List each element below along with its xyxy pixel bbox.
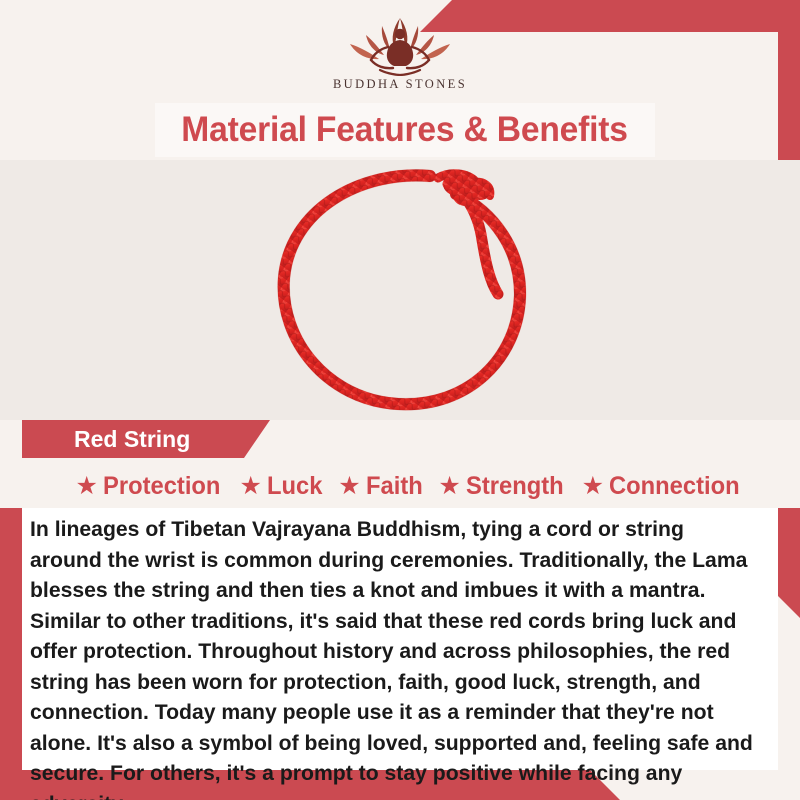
star-icon: ★ <box>338 474 360 499</box>
product-infographic: BUDDHA STONES Material Features & Benefi… <box>0 0 800 800</box>
material-ribbon: Red String <box>22 420 270 458</box>
benefit-label: Luck <box>267 472 322 501</box>
red-string-bracelet-image <box>232 160 572 420</box>
brand-wordmark: BUDDHA STONES <box>333 77 467 92</box>
title-band: Material Features & Benefits <box>155 103 655 157</box>
benefit-label: Faith <box>366 472 423 501</box>
description-text: In lineages of Tibetan Vajrayana Buddhis… <box>30 514 753 800</box>
product-photo <box>0 160 800 420</box>
star-icon: ★ <box>438 474 460 499</box>
star-icon: ★ <box>240 474 262 499</box>
benefit-item: ★ Strength <box>438 472 568 501</box>
lotus-meditation-icon <box>336 14 464 76</box>
description-panel: In lineages of Tibetan Vajrayana Buddhis… <box>22 508 778 770</box>
benefits-list: ★ Protection ★ Luck ★ Faith ★ Strength ★… <box>0 464 800 508</box>
page-title: Material Features & Benefits <box>182 110 629 150</box>
brand-logo: BUDDHA STONES <box>333 14 467 92</box>
benefit-label: Protection <box>103 472 220 501</box>
star-icon: ★ <box>75 474 97 499</box>
benefit-item: ★ Protection <box>75 472 226 501</box>
benefit-item: ★ Connection <box>582 472 747 501</box>
star-icon: ★ <box>582 474 604 499</box>
benefit-item: ★ Luck <box>240 472 326 501</box>
benefit-label: Connection <box>609 472 740 501</box>
benefit-label: Strength <box>466 472 564 501</box>
material-ribbon-row: Red String <box>0 420 800 464</box>
benefit-item: ★ Faith <box>338 472 425 501</box>
material-name: Red String <box>74 426 190 453</box>
brand-header: BUDDHA STONES <box>0 0 800 100</box>
